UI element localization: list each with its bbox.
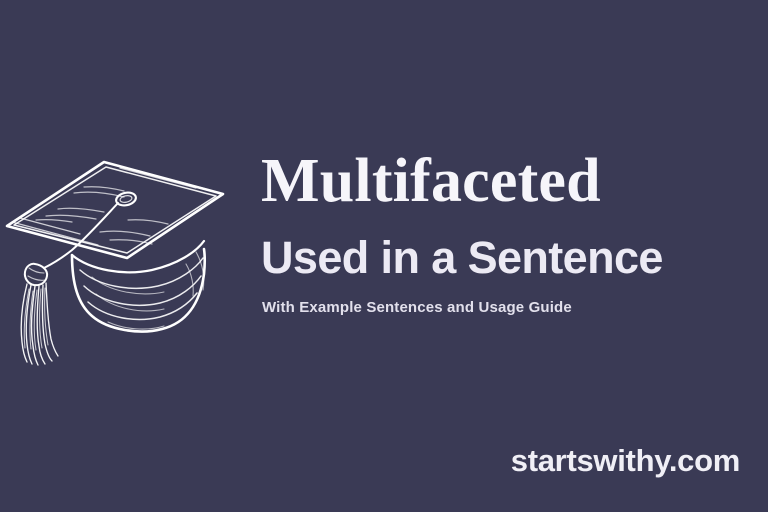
headline-block: Multifaceted Used in a Sentence With Exa… bbox=[255, 150, 755, 350]
brand-watermark: startswithy.com bbox=[511, 443, 740, 479]
thumbnail-card: Multifaceted Used in a Sentence With Exa… bbox=[0, 0, 768, 512]
subtitle-text: With Example Sentences and Usage Guide bbox=[255, 299, 755, 317]
word-title: Multifaceted bbox=[255, 150, 755, 212]
headline-text: Used in a Sentence bbox=[255, 234, 755, 281]
graduation-cap-icon bbox=[0, 146, 250, 376]
